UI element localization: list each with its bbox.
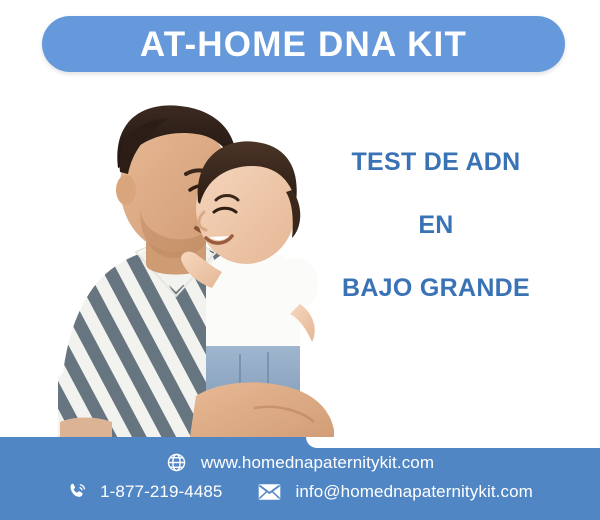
website-text[interactable]: www.homednapaternitykit.com [201, 453, 434, 473]
page-title: AT-HOME DNA KIT [140, 27, 467, 62]
phone-icon [67, 481, 88, 502]
footer-website-row: www.homednapaternitykit.com [0, 452, 600, 473]
headline-line-3: BAJO GRANDE [336, 276, 536, 301]
father-and-child-photo [0, 78, 350, 450]
headline-line-1: TEST DE ADN [336, 150, 536, 175]
footer-phone-email-row: 1-877-219-4485 info@homednapaternitykit.… [0, 481, 600, 502]
footer-contact-rows: www.homednapaternitykit.com 1-877-219-44… [0, 448, 600, 520]
title-banner: AT-HOME DNA KIT [42, 16, 565, 72]
envelope-icon [258, 483, 281, 501]
location-headline: TEST DE ADN EN BAJO GRANDE [336, 150, 536, 301]
email-text[interactable]: info@homednapaternitykit.com [295, 482, 532, 502]
dna-kit-promo-card: AT-HOME DNA KIT [0, 0, 600, 520]
footer-notch [306, 437, 600, 448]
headline-line-2: EN [336, 213, 536, 238]
globe-icon [166, 452, 187, 473]
phone-text[interactable]: 1-877-219-4485 [100, 482, 222, 502]
contact-footer: www.homednapaternitykit.com 1-877-219-44… [0, 437, 600, 520]
photo-illustration [0, 78, 350, 450]
